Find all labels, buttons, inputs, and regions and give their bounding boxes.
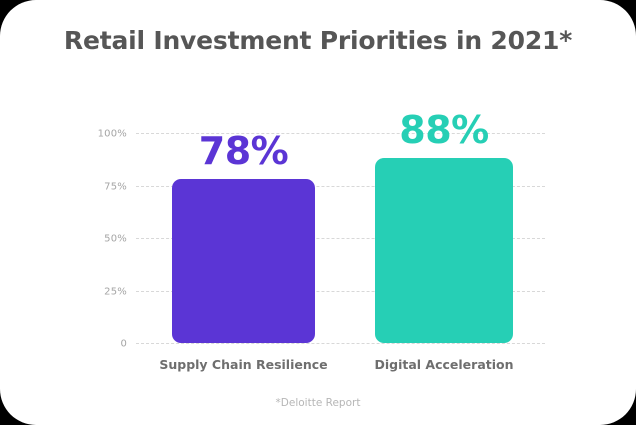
y-tick-label-25: 25% — [104, 286, 127, 297]
y-tick-label-75: 75% — [104, 181, 127, 192]
bar-group-supply-chain-resilience: 78% Supply Chain Resilience — [172, 133, 315, 343]
chart-footnote: *Deloitte Report — [0, 397, 636, 409]
bar-series: 78% Supply Chain Resilience 88% Digital … — [136, 133, 545, 343]
bar-digital-acceleration[interactable] — [375, 158, 513, 343]
x-axis-label-supply-chain-resilience: Supply Chain Resilience — [159, 357, 327, 372]
page-title: Retail Investment Priorities in 2021* — [0, 26, 636, 55]
bar-supply-chain-resilience[interactable] — [172, 179, 315, 343]
chart-card: Retail Investment Priorities in 2021* 10… — [0, 0, 636, 425]
gridline-0: 0 — [136, 343, 545, 344]
bar-value-supply-chain-resilience: 78% — [199, 129, 288, 173]
bar-group-digital-acceleration: 88% Digital Acceleration — [375, 133, 513, 343]
x-axis-label-digital-acceleration: Digital Acceleration — [374, 357, 513, 372]
y-tick-label-50: 50% — [104, 234, 127, 245]
bar-value-digital-acceleration: 88% — [399, 108, 488, 152]
y-tick-label-0: 0 — [120, 339, 127, 350]
y-tick-label-100: 100% — [98, 129, 127, 140]
